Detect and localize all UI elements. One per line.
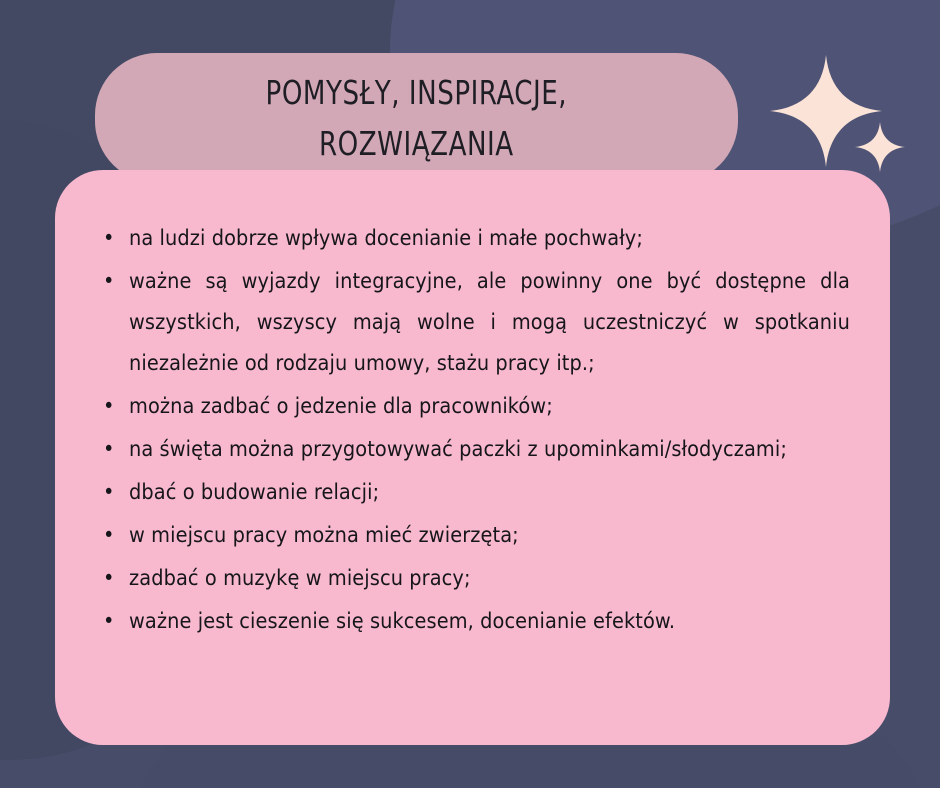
title-pill: POMYSŁY, INSPIRACJE, ROZWIĄZANIA	[95, 53, 738, 183]
bullet-marker-icon: •	[103, 601, 115, 642]
slide-canvas: POMYSŁY, INSPIRACJE, ROZWIĄZANIA • na lu…	[0, 0, 940, 788]
list-item-text: dbać o budowanie relacji;	[129, 480, 379, 505]
list-item: • dbać o budowanie relacji;	[97, 472, 850, 513]
bullet-list: • na ludzi dobrze wpływa docenianie i ma…	[97, 218, 850, 642]
list-item-text: można zadbać o jedzenie dla pracowników;	[129, 394, 553, 419]
list-item-text: zadbać o muzykę w miejscu pracy;	[129, 566, 471, 591]
list-item: • zadbać o muzykę w miejscu pracy;	[97, 558, 850, 599]
list-item-text: na święta można przygotowywać paczki z u…	[129, 437, 787, 462]
list-item-text: w miejscu pracy można mieć zwierzęta;	[129, 523, 519, 548]
list-item-text: ważne są wyjazdy integracyjne, ale powin…	[129, 269, 850, 376]
list-item: • ważne są wyjazdy integracyjne, ale pow…	[97, 261, 850, 384]
list-item: • można zadbać o jedzenie dla pracownikó…	[97, 386, 850, 427]
list-item: • ważne jest cieszenie się sukcesem, doc…	[97, 601, 850, 642]
bullet-marker-icon: •	[103, 472, 115, 513]
bullet-marker-icon: •	[103, 515, 115, 556]
list-item: • w miejscu pracy można mieć zwierzęta;	[97, 515, 850, 556]
bullet-marker-icon: •	[103, 429, 115, 470]
bullet-marker-icon: •	[103, 386, 115, 427]
list-item: • na święta można przygotowywać paczki z…	[97, 429, 850, 470]
bullet-marker-icon: •	[103, 558, 115, 599]
sparkle-star-small-icon	[855, 122, 905, 172]
list-item: • na ludzi dobrze wpływa docenianie i ma…	[97, 218, 850, 259]
page-title: POMYSŁY, INSPIRACJE, ROZWIĄZANIA	[266, 67, 568, 169]
content-card: • na ludzi dobrze wpływa docenianie i ma…	[55, 170, 890, 745]
bullet-marker-icon: •	[103, 218, 115, 259]
list-item-text: ważne jest cieszenie się sukcesem, docen…	[129, 609, 675, 634]
list-item-text: na ludzi dobrze wpływa docenianie i małe…	[129, 226, 643, 251]
bullet-marker-icon: •	[103, 261, 115, 302]
